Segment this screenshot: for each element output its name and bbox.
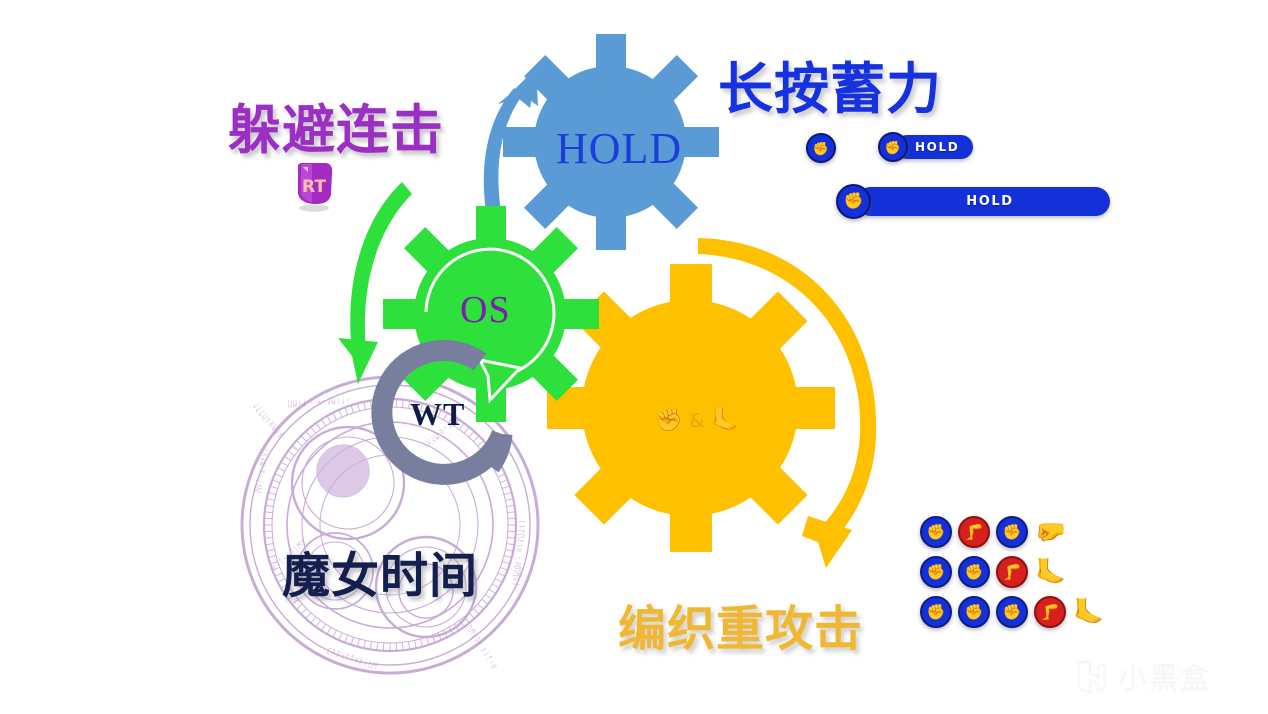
infographic-canvas: ᛞᚱᚨᚲᛟ ᛗᚨᚷᛁ ᚹᛁᛏᚲᚺᛏᛁᛗᛖ ᛈᚢᚱᚷᚨᛏᛟᚱᛁᚢᛗ ᚢᛗᛒᚱᚨ ᚹ…	[0, 0, 1268, 714]
punch-icon: ✊	[958, 596, 990, 628]
punch-icon: ✊	[920, 596, 952, 628]
finisher-glyph: 🦶	[1035, 560, 1066, 585]
punch-emoji-icon: 🤛	[1034, 517, 1068, 547]
kick-glyph: 🦵	[1041, 605, 1060, 620]
punch-glyph: ✊	[927, 565, 946, 580]
fist-badge-icon: ✊	[806, 133, 836, 163]
fist-glyph: ✊	[885, 141, 901, 154]
kick-glyph: 🦵	[965, 525, 984, 540]
fist-badge-icon: ✊	[878, 132, 908, 162]
punch-icon: ✊	[920, 556, 952, 588]
foot-emoji-icon: 🦶	[1072, 597, 1106, 627]
kick-glyph: 🦵	[1003, 565, 1022, 580]
combo-row: ✊ ✊ ✊ 🦵 🦶	[920, 592, 1110, 632]
punch-icon: ✊	[996, 596, 1028, 628]
prompt-hold-large[interactable]: ✊ HOLD	[836, 184, 1110, 219]
rt-button-label: RT	[302, 177, 326, 197]
blue-gear-label: HOLD	[556, 123, 682, 174]
yellow-gear-inner-label: ✊ & 🦶	[655, 408, 739, 433]
watermark: 小黑盒	[1075, 655, 1211, 697]
finisher-glyph: 🤛	[1035, 520, 1066, 545]
svg-text:ᛒᚨᚤᛟᚾᛖᛏᛏᚨ: ᛒᚨᚤᛟᚾᛖᛏᛏᚨ	[251, 401, 286, 440]
punch-glyph: ✊	[1003, 525, 1022, 540]
ampersand-label: &	[689, 410, 704, 432]
kick-icon: 🦵	[958, 516, 990, 548]
prompt-fist-badge-standalone[interactable]: ✊	[806, 133, 836, 163]
foot-emoji-icon: 🦶	[1034, 557, 1068, 587]
combo-row: ✊ 🦵 ✊ 🤛	[920, 512, 1110, 552]
punch-glyph: ✊	[927, 525, 946, 540]
title-hold-charge: 长按蓄力	[718, 44, 942, 124]
kick-icon: 🦵	[996, 556, 1028, 588]
punch-icon: ✊	[958, 556, 990, 588]
punch-icon: ✊	[920, 516, 952, 548]
finisher-glyph: 🦶	[1073, 600, 1104, 625]
combo-row: ✊ ✊ 🦵 🦶	[920, 552, 1110, 592]
xiaoheihe-logo-icon	[1075, 658, 1109, 694]
rt-button[interactable]: RT	[292, 160, 338, 212]
punch-glyph: ✊	[965, 605, 984, 620]
watermark-text: 小黑盒	[1118, 655, 1211, 697]
fist-badge-icon: ✊	[836, 184, 871, 219]
kick-icon: 🦵	[1034, 596, 1066, 628]
green-gear-label: OS	[460, 288, 511, 332]
foot-emoji-icon: 🦶	[711, 408, 738, 433]
svg-text:ᛞᚱᚨᚲᛟ ᛗᚨᚷᛁ: ᛞᚱᚨᚲᛟ ᛗᚨᚷᛁ	[253, 447, 271, 494]
punch-glyph: ✊	[927, 605, 946, 620]
gray-loop-label: WT	[410, 396, 465, 433]
fist-glyph: ✊	[844, 194, 864, 210]
title-weave-heavy-attack: 编织重攻击	[618, 589, 863, 659]
hold-pill-label: HOLD	[856, 187, 1110, 216]
title-witch-time: 魔女时间	[282, 536, 478, 606]
fist-glyph: ✊	[813, 142, 829, 155]
punch-emoji-icon: ✊	[655, 408, 682, 433]
title-dodge-offset: 躲避连击	[228, 88, 444, 164]
punch-glyph: ✊	[1003, 605, 1022, 620]
combo-list: ✊ 🦵 ✊ 🤛 ✊ ✊ 🦵 🦶	[920, 512, 1110, 632]
prompt-hold-small[interactable]: ✊ HOLD	[878, 132, 973, 162]
punch-glyph: ✊	[965, 565, 984, 580]
punch-icon: ✊	[996, 516, 1028, 548]
